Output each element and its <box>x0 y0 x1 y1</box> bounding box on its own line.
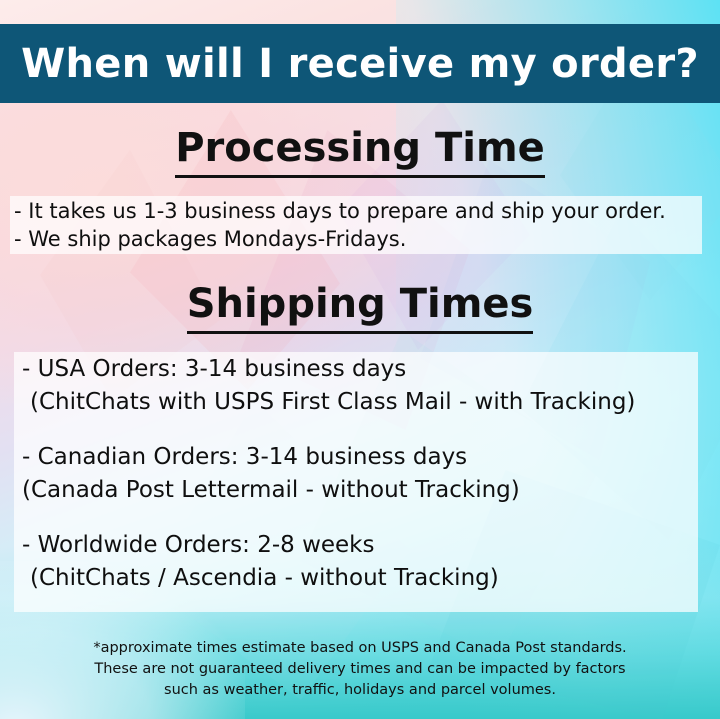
page-title: When will I receive my order? <box>21 44 699 84</box>
shipping-groups: - USA Orders: 3-14 business days (ChitCh… <box>22 353 702 595</box>
shipping-group-primary: - Worldwide Orders: 2-8 weeks <box>22 529 702 562</box>
shipping-group-primary: - Canadian Orders: 3-14 business days <box>22 441 702 474</box>
section-heading-processing-text: Processing Time <box>175 125 545 178</box>
disclaimer: *approximate times estimate based on USP… <box>0 638 720 701</box>
processing-line: - It takes us 1-3 business days to prepa… <box>14 197 714 225</box>
shipping-group-secondary: (ChitChats / Ascendia - without Tracking… <box>22 562 702 595</box>
shipping-group-secondary: (Canada Post Lettermail - without Tracki… <box>22 474 702 507</box>
processing-lines: - It takes us 1-3 business days to prepa… <box>14 197 714 253</box>
disclaimer-line: *approximate times estimate based on USP… <box>0 638 720 659</box>
poster-content: When will I receive my order? Processing… <box>0 0 720 719</box>
section-heading-processing: Processing Time <box>0 128 720 168</box>
disclaimer-line: These are not guaranteed delivery times … <box>0 659 720 680</box>
disclaimer-line: such as weather, traffic, holidays and p… <box>0 680 720 701</box>
section-heading-shipping: Shipping Times <box>0 284 720 324</box>
shipping-info-poster: When will I receive my order? Processing… <box>0 0 720 719</box>
shipping-group-primary: - USA Orders: 3-14 business days <box>22 353 702 386</box>
section-heading-shipping-text: Shipping Times <box>187 281 534 334</box>
shipping-group-secondary: (ChitChats with USPS First Class Mail - … <box>22 386 702 419</box>
processing-line: - We ship packages Mondays-Fridays. <box>14 225 714 253</box>
shipping-group-usa: - USA Orders: 3-14 business days (ChitCh… <box>22 353 702 419</box>
shipping-group-canada: - Canadian Orders: 3-14 business days (C… <box>22 441 702 507</box>
title-banner: When will I receive my order? <box>0 24 720 103</box>
shipping-group-worldwide: - Worldwide Orders: 2-8 weeks (ChitChats… <box>22 529 702 595</box>
